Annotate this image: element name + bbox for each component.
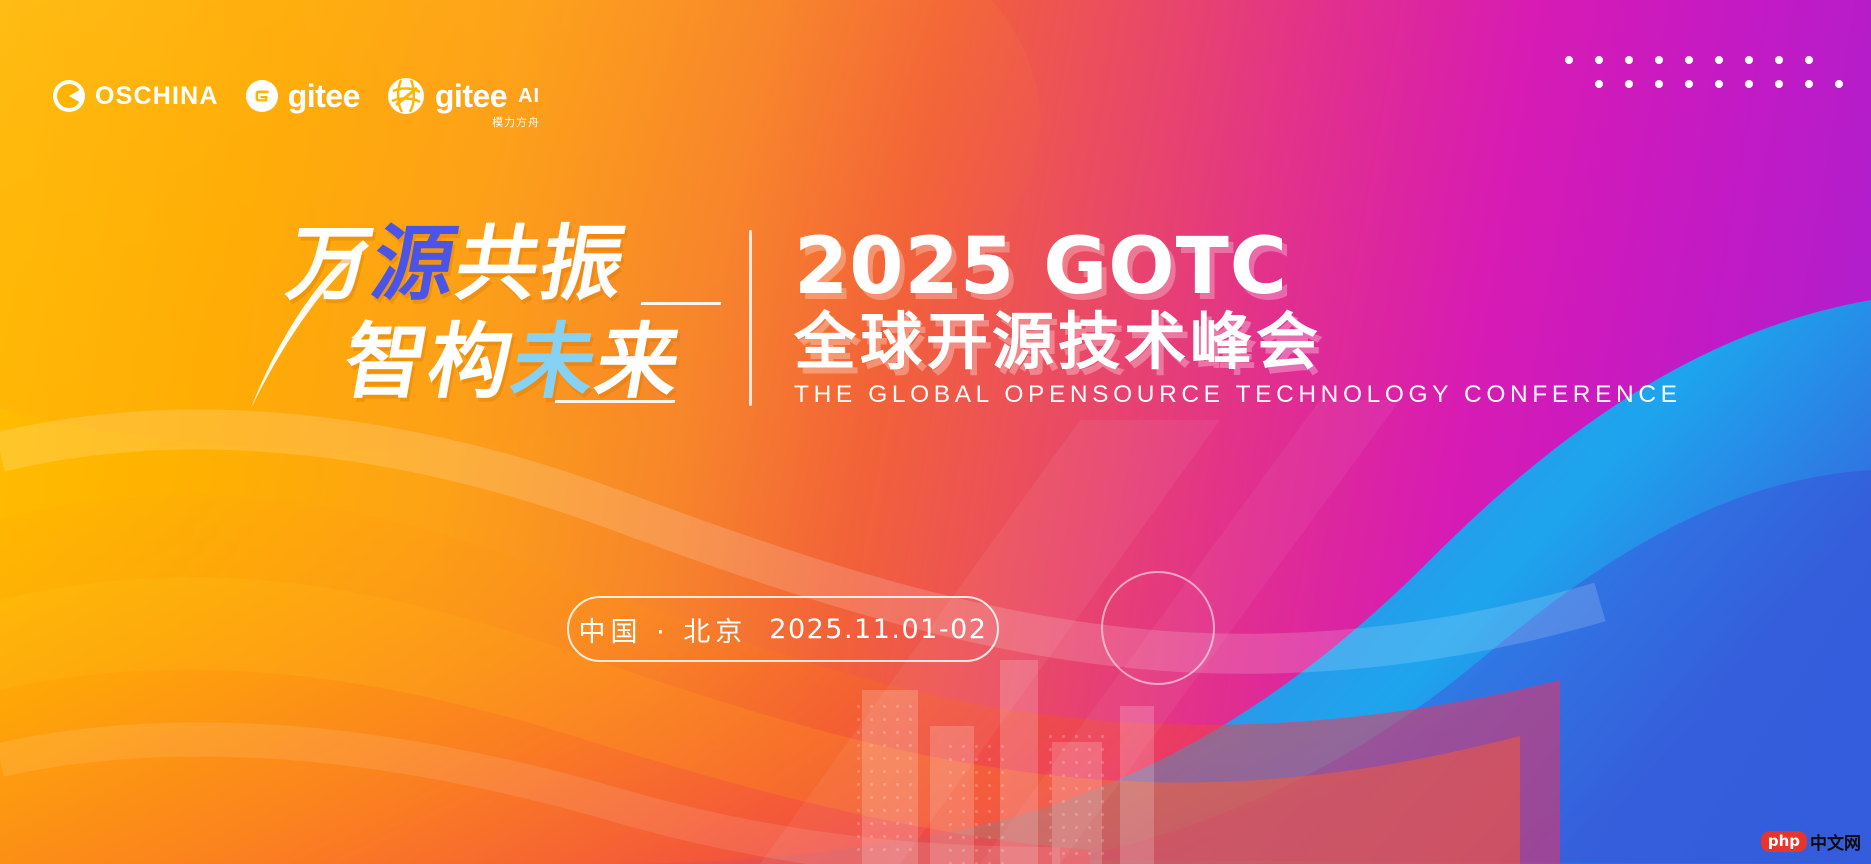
lockup-divider xyxy=(749,230,752,406)
dot-texture-left xyxy=(852,700,922,860)
background-waves xyxy=(0,0,1871,864)
decorative-dot-grid xyxy=(1565,56,1843,88)
slogan-line2-part2: 来 xyxy=(589,315,690,410)
title-block: 2025 GOTC 全球开源技术峰会 THE GLOBAL OPENSOURCE… xyxy=(794,227,1682,409)
logo-gitee-ai-suffix: AI xyxy=(518,85,540,108)
watermark-chinese-text: 中文网 xyxy=(1810,829,1861,854)
event-title-main: 2025 GOTC xyxy=(794,229,1682,305)
event-title-chinese: 全球开源技术峰会 xyxy=(794,310,1682,373)
dot-row-1 xyxy=(1565,56,1843,64)
logo-gitee-ai[interactable]: gitee AI 模力方舟 xyxy=(386,76,540,116)
dot-texture-right xyxy=(1044,730,1110,864)
slogan-underbar-1 xyxy=(641,302,722,305)
logo-gitee[interactable]: gitee xyxy=(245,79,360,113)
main-lockup: 万源共振 智构未来 2025 GOTC 全球开源技术峰会 THE GLOBAL … xyxy=(255,218,1682,418)
slogan-line1-part2: 共振 xyxy=(449,217,634,312)
partner-logos: OSCHINA gitee gitee AI 模力方舟 xyxy=(52,76,540,116)
event-date: 2025.11.01-02 xyxy=(769,614,987,645)
oschina-c-icon xyxy=(52,79,86,113)
slogan-block: 万源共振 智构未来 xyxy=(255,218,715,418)
logo-oschina[interactable]: OSCHINA xyxy=(52,79,219,113)
gitee-g-icon xyxy=(245,79,279,113)
gitee-ai-globe-icon xyxy=(386,76,426,116)
background-artwork xyxy=(0,0,1871,864)
logo-gitee-text: gitee xyxy=(288,80,360,112)
logo-oschina-text: OSCHINA xyxy=(95,84,219,109)
slogan-line-1: 万源共振 xyxy=(282,224,633,306)
watermark-php-badge: php xyxy=(1761,831,1807,852)
event-location: 中国 · 北京 xyxy=(579,610,748,649)
logo-gitee-ai-text: gitee xyxy=(435,80,507,112)
conference-banner: OSCHINA gitee gitee AI 模力方舟 xyxy=(0,0,1871,864)
slogan-underbar-2 xyxy=(555,400,676,403)
dot-row-2 xyxy=(1595,80,1843,88)
slogan-line-2: 智构未来 xyxy=(338,322,689,404)
event-title-english: THE GLOBAL OPENSOURCE TECHNOLOGY CONFERE… xyxy=(794,381,1682,409)
logo-gitee-ai-subtext: 模力方舟 xyxy=(492,114,540,130)
event-details-pill: 中国 · 北京 2025.11.01-02 xyxy=(567,596,999,662)
site-watermark: php 中文网 xyxy=(1761,829,1861,854)
dot-texture-mid xyxy=(944,740,1004,864)
slogan-line2-part1: 智构 xyxy=(337,315,522,410)
